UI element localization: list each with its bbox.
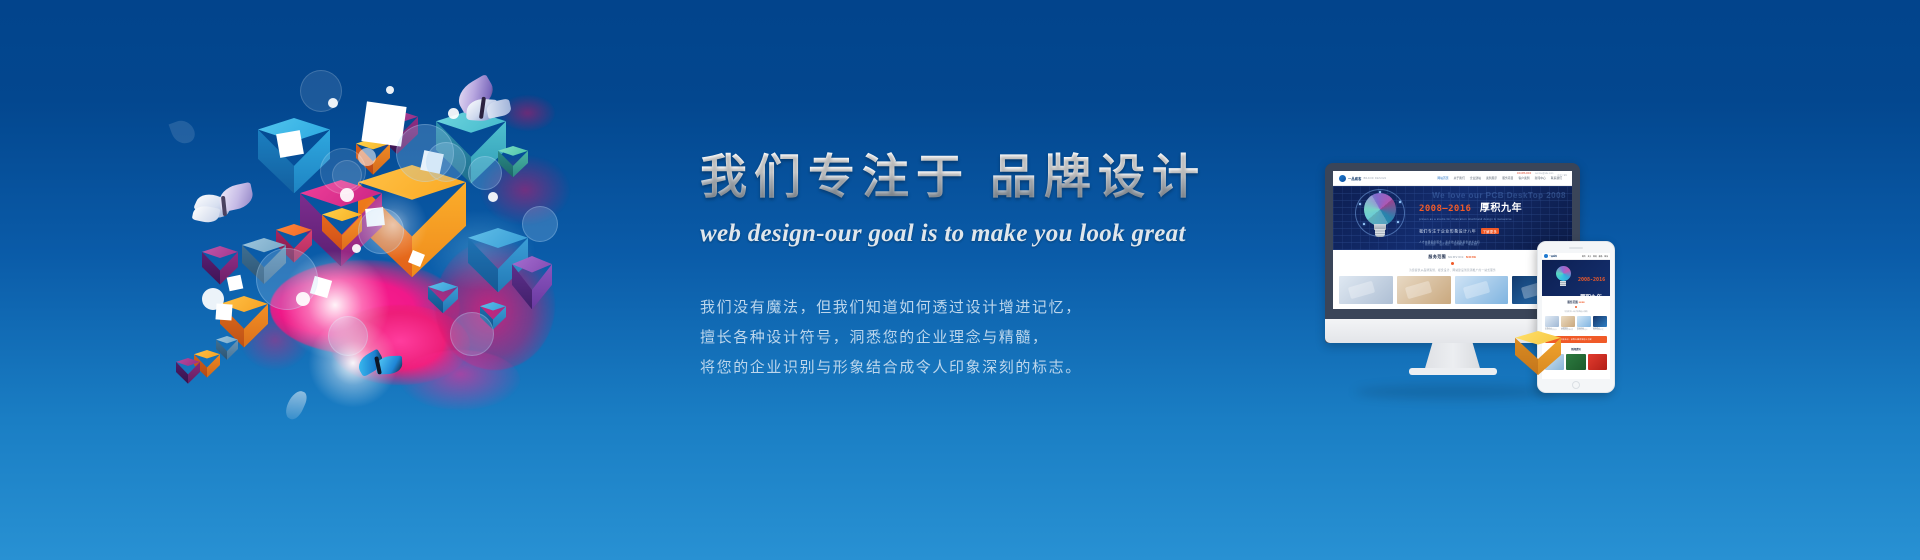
mobile-card-thumb	[1577, 316, 1591, 327]
abstract-artwork	[180, 60, 660, 460]
mobile-news-item[interactable]	[1566, 354, 1585, 370]
mobile-bulb-globe	[1556, 266, 1571, 281]
section-accent-dot	[1451, 262, 1454, 265]
mobile-section-heading: 服务范围MORE	[1542, 300, 1610, 304]
phone-home-button[interactable]	[1572, 381, 1580, 389]
mobile-menu-item[interactable]: 首页	[1582, 255, 1586, 258]
site-logo[interactable]: 一品威客 BRAND DESIGN	[1339, 175, 1387, 182]
mobile-card[interactable]: 平面设计 专业平面视觉设计	[1545, 316, 1559, 332]
service-card[interactable]	[1339, 276, 1393, 304]
mobile-menu-item[interactable]: 联系	[1604, 255, 1608, 258]
mobile-navbar: 一品威客 首页 关于 案例 服务 联系	[1542, 253, 1610, 260]
mobile-logo-icon	[1544, 254, 1548, 258]
menu-item[interactable]: 关于我们	[1454, 176, 1465, 180]
mobile-card-thumb	[1545, 316, 1559, 327]
description-line: 我们没有魔法，但我们知道如何透过设计增进记忆，	[700, 293, 1260, 323]
artwork-butterfly-layer	[180, 60, 660, 460]
service-card[interactable]	[1397, 276, 1451, 304]
hero-description: 我们没有魔法，但我们知道如何透过设计增进记忆， 擅长各种设计符号，洞悉您的企业理…	[700, 293, 1260, 383]
hero-link[interactable]: 联系我们	[1468, 242, 1478, 246]
hero-years: 2008—2016	[1419, 204, 1471, 214]
mobile-cta-text: 立即咨询 · 获取专属品牌设计方案	[1560, 338, 1592, 341]
petal-shape	[169, 117, 198, 147]
butterfly-icon	[190, 179, 259, 233]
logo-text: 一品威客	[1348, 176, 1362, 181]
logo-subtext: BRAND DESIGN	[1364, 177, 1387, 180]
section-heading: 服务范围SERVICEMORE	[1339, 254, 1566, 260]
menu-item[interactable]: 案例展示	[1486, 176, 1497, 180]
hero-headline-en: proven as a studio for illustration inte…	[1419, 218, 1522, 221]
hero-text-block: 我们专注于 品牌设计 web design-our goal is to mak…	[700, 150, 1260, 383]
mobile-card[interactable]: 网站建设 响应式网站开发	[1593, 316, 1607, 332]
menu-item[interactable]: 联系我们	[1551, 176, 1562, 180]
mobile-card[interactable]: 品牌策划 全案品牌策略规划	[1561, 316, 1575, 332]
mobile-card-thumb	[1593, 316, 1607, 327]
monitor-stand-neck	[1425, 343, 1481, 370]
page-title: 我们专注于 品牌设计	[700, 150, 1260, 204]
mobile-lightbulb-icon	[1552, 266, 1574, 290]
logo-mark-icon	[1339, 175, 1346, 182]
menu-item[interactable]: 企业建站	[1470, 176, 1481, 180]
site-navbar: 一品威客 BRAND DESIGN 400-888-0000 service@s…	[1333, 171, 1572, 186]
mobile-card[interactable]: 移动应用 移动端界面设计	[1577, 316, 1591, 332]
mobile-hero-banner: 2008-2016厚积九年 专注企业品牌形象设计	[1542, 260, 1610, 296]
phone-link[interactable]: 400-888-0000	[1517, 173, 1531, 177]
mobile-hero-years: 2008-2016	[1578, 277, 1605, 283]
hero-subline: 我们专注于企业形象设计八年 了解更多	[1419, 228, 1522, 235]
mobile-card-list: 平面设计 专业平面视觉设计 品牌策划 全案品牌策略规划 移动应用 移动端界面设计	[1542, 316, 1610, 332]
menu-item[interactable]: 新闻中心	[1535, 176, 1546, 180]
device-mockups: 一品威客 BRAND DESIGN 400-888-0000 service@s…	[1325, 163, 1625, 393]
section-title-en: SERVICE	[1448, 255, 1464, 259]
mobile-news-item[interactable]	[1588, 354, 1607, 370]
mobile-section-more[interactable]: MORE	[1579, 302, 1585, 304]
hero-link[interactable]: 设计理念	[1439, 242, 1449, 246]
service-card[interactable]	[1455, 276, 1509, 304]
hero-headline: 厚积九年	[1480, 199, 1522, 214]
mobile-news-title: 新闻资讯	[1571, 348, 1581, 351]
hero-subline-text: 我们专注于企业形象设计八年	[1419, 229, 1476, 234]
feather-shape	[283, 388, 310, 422]
lang-link[interactable]: 中文 / EN	[1557, 173, 1567, 177]
hero-link[interactable]: 案例精选	[1454, 242, 1464, 246]
description-line: 擅长各种设计符号，洞悉您的企业理念与精髓，	[700, 323, 1260, 353]
section-more-link[interactable]: MORE	[1466, 255, 1477, 259]
butterfly-icon	[453, 74, 524, 134]
section-title-cn: 服务范围	[1428, 254, 1446, 259]
menu-item[interactable]: 网站首页	[1437, 176, 1448, 180]
hero-copy: 2008—2016 厚积九年 proven as a studio for il…	[1419, 198, 1522, 244]
mobile-card-desc: 移动端界面设计	[1577, 330, 1591, 332]
mobile-section-desc: 为您提供一站式品牌设计服务	[1542, 310, 1610, 313]
mobile-section-title: 服务范围	[1567, 301, 1577, 304]
mobile-hero-headline: 厚积九年	[1580, 295, 1602, 296]
menu-item[interactable]: 服务项目	[1502, 176, 1513, 180]
mobile-menu: 首页 关于 案例 服务 联系	[1582, 255, 1608, 258]
mobile-menu-item[interactable]: 案例	[1593, 255, 1597, 258]
mobile-card-thumb	[1561, 316, 1575, 327]
site-hero-banner: We love our PCB DeskTop 2008	[1333, 186, 1572, 250]
mobile-accent-dot	[1575, 306, 1577, 308]
section-description: 为您提供从品牌策划、视觉设计、网站建设到营销推广的一站式服务	[1339, 268, 1566, 272]
bulb-facets	[1364, 193, 1396, 226]
mobile-bulb-base	[1560, 281, 1566, 286]
site-top-links: 400-888-0000 service@site.com 中文 / EN	[1517, 173, 1567, 177]
menu-item[interactable]: 客户案例	[1518, 176, 1529, 180]
gold-cube-decoration	[1515, 331, 1561, 379]
description-line: 将您的企业识别与形象结合成令人印象深刻的标志。	[700, 353, 1260, 383]
mobile-menu-item[interactable]: 服务	[1599, 255, 1603, 258]
hero-banner: 我们专注于 品牌设计 web design-our goal is to mak…	[0, 0, 1920, 560]
monitor-stand-base	[1409, 368, 1497, 375]
bulb-base	[1375, 229, 1385, 237]
phone-speaker	[1569, 247, 1583, 249]
lightbulb-icon	[1357, 193, 1403, 245]
mobile-logo-text: 一品威客	[1549, 255, 1557, 258]
mobile-card-desc: 响应式网站开发	[1593, 330, 1607, 332]
site-menu: 网站首页 关于我们 企业建站 案例展示 服务项目 客户案例 新闻中心 联系我们	[1437, 176, 1566, 180]
hero-link[interactable]: 服务范围	[1425, 242, 1435, 246]
service-card-list	[1339, 276, 1566, 304]
hero-cta-button[interactable]: 了解更多	[1481, 228, 1499, 234]
page-subtitle: web design-our goal is to make you look …	[700, 220, 1260, 248]
email-link[interactable]: service@site.com	[1535, 173, 1553, 177]
mobile-menu-item[interactable]: 关于	[1588, 255, 1592, 258]
mobile-card-desc: 全案品牌策略规划	[1561, 330, 1575, 332]
hero-indicator-links: 服务范围 设计理念 案例精选 联系我们	[1425, 242, 1479, 246]
mobile-hero-copy: 2008-2016厚积九年 专注企业品牌形象设计	[1578, 268, 1610, 296]
butterfly-icon	[353, 343, 407, 386]
